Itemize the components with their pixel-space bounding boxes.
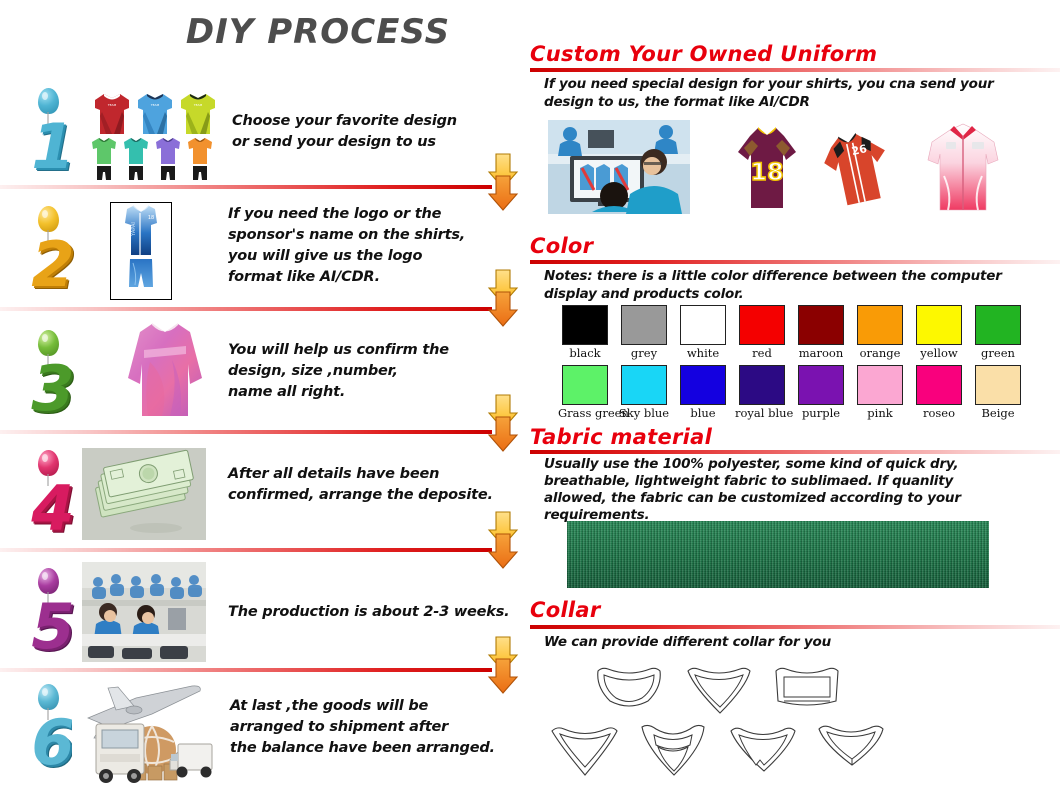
color-label: Sky blue <box>617 406 671 420</box>
step-row: 3 <box>0 318 520 430</box>
step-number-badge: 5 <box>22 568 84 660</box>
step-number-label: 4 <box>22 478 84 542</box>
jersey-color-variants-photo: TEAM TEAM <box>88 90 216 182</box>
blue-basketball-uniform-photo: YAPAI 18 <box>110 202 172 300</box>
color-swatch-item[interactable]: roseo <box>912 365 966 420</box>
pink-long-sleeve-jersey-photo <box>110 320 220 424</box>
color-swatch-item[interactable]: royal blue <box>735 365 789 420</box>
v-neck-collar <box>682 665 756 719</box>
svg-text:TEAM: TEAM <box>193 103 203 107</box>
section-heading-custom-uniform: Custom Your Owned Uniform <box>530 42 877 66</box>
step-number-label: 2 <box>22 234 84 298</box>
color-label: Beige <box>971 406 1025 420</box>
section-divider <box>0 668 492 672</box>
step-row: 4 <box>0 442 520 550</box>
garment-factory-production-photo <box>82 562 206 662</box>
section-divider <box>530 68 1060 72</box>
section-heading-fabric-material: Tabric material <box>530 425 712 449</box>
svg-text:TEAM: TEAM <box>150 103 160 107</box>
color-swatch <box>621 305 667 345</box>
square-neck-collar <box>770 665 844 715</box>
color-swatch-item[interactable]: blue <box>676 365 730 420</box>
color-swatch <box>916 365 962 405</box>
color-swatch <box>680 365 726 405</box>
section-divider <box>530 260 1060 264</box>
cash-money-photo <box>82 448 206 540</box>
color-swatch <box>975 365 1021 405</box>
step-row: 5 <box>0 558 520 670</box>
color-swatch-item[interactable]: yellow <box>912 305 966 360</box>
color-swatch-item[interactable]: maroon <box>794 305 848 360</box>
section-heading-collar: Collar <box>530 598 601 622</box>
color-swatch-item[interactable]: green <box>971 305 1025 360</box>
color-label: black <box>558 346 612 360</box>
step-description: Choose your favorite design or send your… <box>232 111 502 153</box>
svg-text:TEAM: TEAM <box>107 103 117 107</box>
step-number-label: 3 <box>22 358 84 422</box>
color-label: pink <box>853 406 907 420</box>
step-description: You will help us confirm the design, siz… <box>228 340 508 403</box>
section-body-custom-uniform: If you need special design for your shir… <box>544 75 1044 111</box>
color-swatch-item[interactable]: Grass green <box>558 365 612 420</box>
color-swatch-item[interactable]: black <box>558 305 612 360</box>
svg-text:18: 18 <box>148 215 154 221</box>
section-divider <box>530 625 1060 629</box>
color-swatch <box>562 305 608 345</box>
section-body-fabric-material: Usually use the 100% polyester, some kin… <box>544 456 1054 524</box>
notched-v-neck-collar <box>726 725 800 779</box>
green-polyester-fabric-swatch <box>567 521 989 588</box>
section-heading-color: Color <box>530 234 593 258</box>
section-divider <box>0 185 492 189</box>
double-down-arrow-icon <box>484 635 522 695</box>
step-row: 2 <box>0 198 520 308</box>
color-label: orange <box>853 346 907 360</box>
section-body-collar: We can provide different collar for you <box>544 633 1044 651</box>
color-swatch <box>562 365 608 405</box>
color-label: maroon <box>794 346 848 360</box>
color-swatch <box>621 365 667 405</box>
color-swatch <box>739 365 785 405</box>
step-number-label: 1 <box>22 116 84 180</box>
double-down-arrow-icon <box>484 152 522 212</box>
round-neck-collar <box>592 665 666 715</box>
color-label: royal blue <box>735 406 789 420</box>
design-studio-computer-photo <box>548 120 690 214</box>
page-title: DIY PROCESS <box>168 12 468 52</box>
color-swatch <box>916 305 962 345</box>
color-swatch <box>857 365 903 405</box>
color-swatch <box>857 305 903 345</box>
step-number-label: 5 <box>22 596 84 660</box>
color-swatch-item[interactable]: Sky blue <box>617 365 671 420</box>
color-swatch <box>680 305 726 345</box>
color-swatch-grid: black grey white red maroon orange yello… <box>558 305 1058 425</box>
collar-shape-gallery <box>540 665 940 790</box>
color-label: purple <box>794 406 848 420</box>
color-swatch-item[interactable]: pink <box>853 365 907 420</box>
product-details-column: Custom Your Owned Uniform If you need sp… <box>520 0 1060 795</box>
step-number-badge: 4 <box>22 450 84 542</box>
red-jersey-26-photo: 26 <box>818 126 900 210</box>
v-neck-with-placket-collar <box>636 723 710 781</box>
step-number-badge: 1 <box>22 88 84 180</box>
double-down-arrow-icon <box>484 510 522 570</box>
section-divider <box>530 450 1060 454</box>
section-body-color: Notes: there is a little color differenc… <box>544 267 1044 303</box>
shipping-plane-truck-globe-photo <box>72 680 224 790</box>
step-row: 1 TEAM <box>0 88 520 183</box>
step-description: If you need the logo or the sponsor's na… <box>228 204 508 288</box>
step-description: After all details have been confirmed, a… <box>228 464 508 506</box>
section-divider <box>0 430 492 434</box>
color-swatch-item[interactable]: grey <box>617 305 671 360</box>
color-label: blue <box>676 406 730 420</box>
color-swatch-item[interactable]: Beige <box>971 365 1025 420</box>
step-row: 6 <box>0 678 520 793</box>
color-swatch <box>975 305 1021 345</box>
svg-text:18: 18 <box>750 158 783 186</box>
color-label: white <box>676 346 730 360</box>
color-label: red <box>735 346 789 360</box>
color-label: green <box>971 346 1025 360</box>
step-description: At last ,the goods will be arranged to s… <box>230 696 520 759</box>
color-label: roseo <box>912 406 966 420</box>
color-swatch <box>798 305 844 345</box>
deep-v-neck-collar <box>548 725 622 781</box>
color-swatch-item[interactable]: red <box>735 305 789 360</box>
uniform-photo-row: 18 26 <box>548 120 1048 220</box>
double-down-arrow-icon <box>484 393 522 453</box>
color-swatch <box>798 365 844 405</box>
section-divider <box>0 307 492 311</box>
maroon-jersey-18-photo: 18 <box>730 122 804 214</box>
step-number-badge: 2 <box>22 206 84 298</box>
color-swatch-item[interactable]: purple <box>794 365 848 420</box>
color-swatch-item[interactable]: white <box>676 305 730 360</box>
step-description: The production is about 2-3 weeks. <box>228 602 518 623</box>
wide-v-neck-collar <box>814 723 888 773</box>
svg-text:YAPAI: YAPAI <box>131 222 137 237</box>
step-number-badge: 3 <box>22 330 84 422</box>
infographic-page: DIY PROCESS 1 <box>0 0 1060 795</box>
color-label: yellow <box>912 346 966 360</box>
pink-white-track-jacket-photo <box>920 120 1006 214</box>
color-swatch-item[interactable]: orange <box>853 305 907 360</box>
color-label: Grass green <box>558 406 612 420</box>
color-swatch <box>739 305 785 345</box>
color-label: grey <box>617 346 671 360</box>
diy-process-column: DIY PROCESS 1 <box>0 0 520 795</box>
double-down-arrow-icon <box>484 268 522 328</box>
section-divider <box>0 548 492 552</box>
